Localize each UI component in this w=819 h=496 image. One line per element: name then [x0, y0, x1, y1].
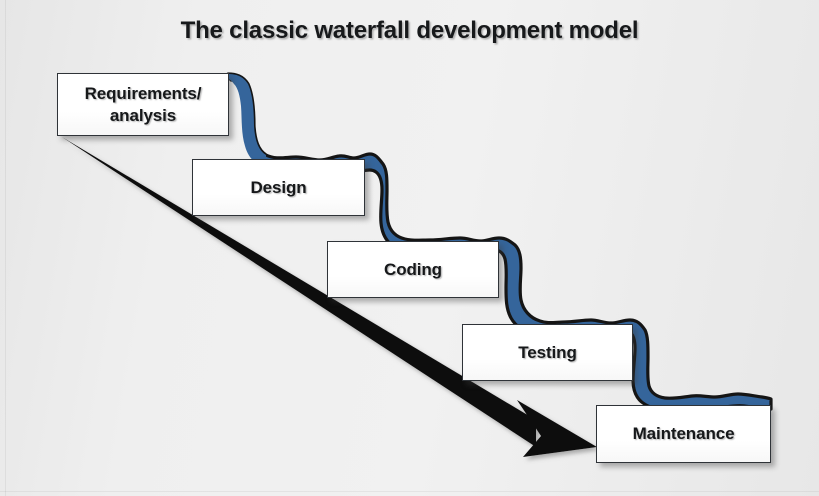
stage-label-coding-line1: Coding [384, 260, 442, 279]
stage-label-requirements: Requirements/ analysis [85, 83, 202, 127]
stage-box-design[interactable]: Design [192, 159, 365, 216]
stage-label-design-line1: Design [250, 178, 306, 197]
waterfall-diagram-canvas: The classic waterfall development model … [0, 0, 819, 496]
stage-boxes: Requirements/ analysis Design Coding Tes… [0, 0, 819, 496]
stage-box-coding[interactable]: Coding [327, 241, 499, 298]
stage-label-design: Design [250, 177, 306, 199]
stage-label-testing-line1: Testing [518, 343, 577, 362]
stage-label-requirements-line1: Requirements/ [85, 84, 202, 103]
stage-box-requirements[interactable]: Requirements/ analysis [57, 73, 229, 136]
stage-label-requirements-line2: analysis [85, 105, 202, 127]
stage-label-maintenance: Maintenance [633, 423, 735, 445]
stage-label-testing: Testing [518, 342, 577, 364]
stage-box-testing[interactable]: Testing [462, 324, 633, 381]
stage-label-maintenance-line1: Maintenance [633, 424, 735, 443]
stage-box-maintenance[interactable]: Maintenance [596, 405, 771, 463]
stage-label-coding: Coding [384, 259, 442, 281]
